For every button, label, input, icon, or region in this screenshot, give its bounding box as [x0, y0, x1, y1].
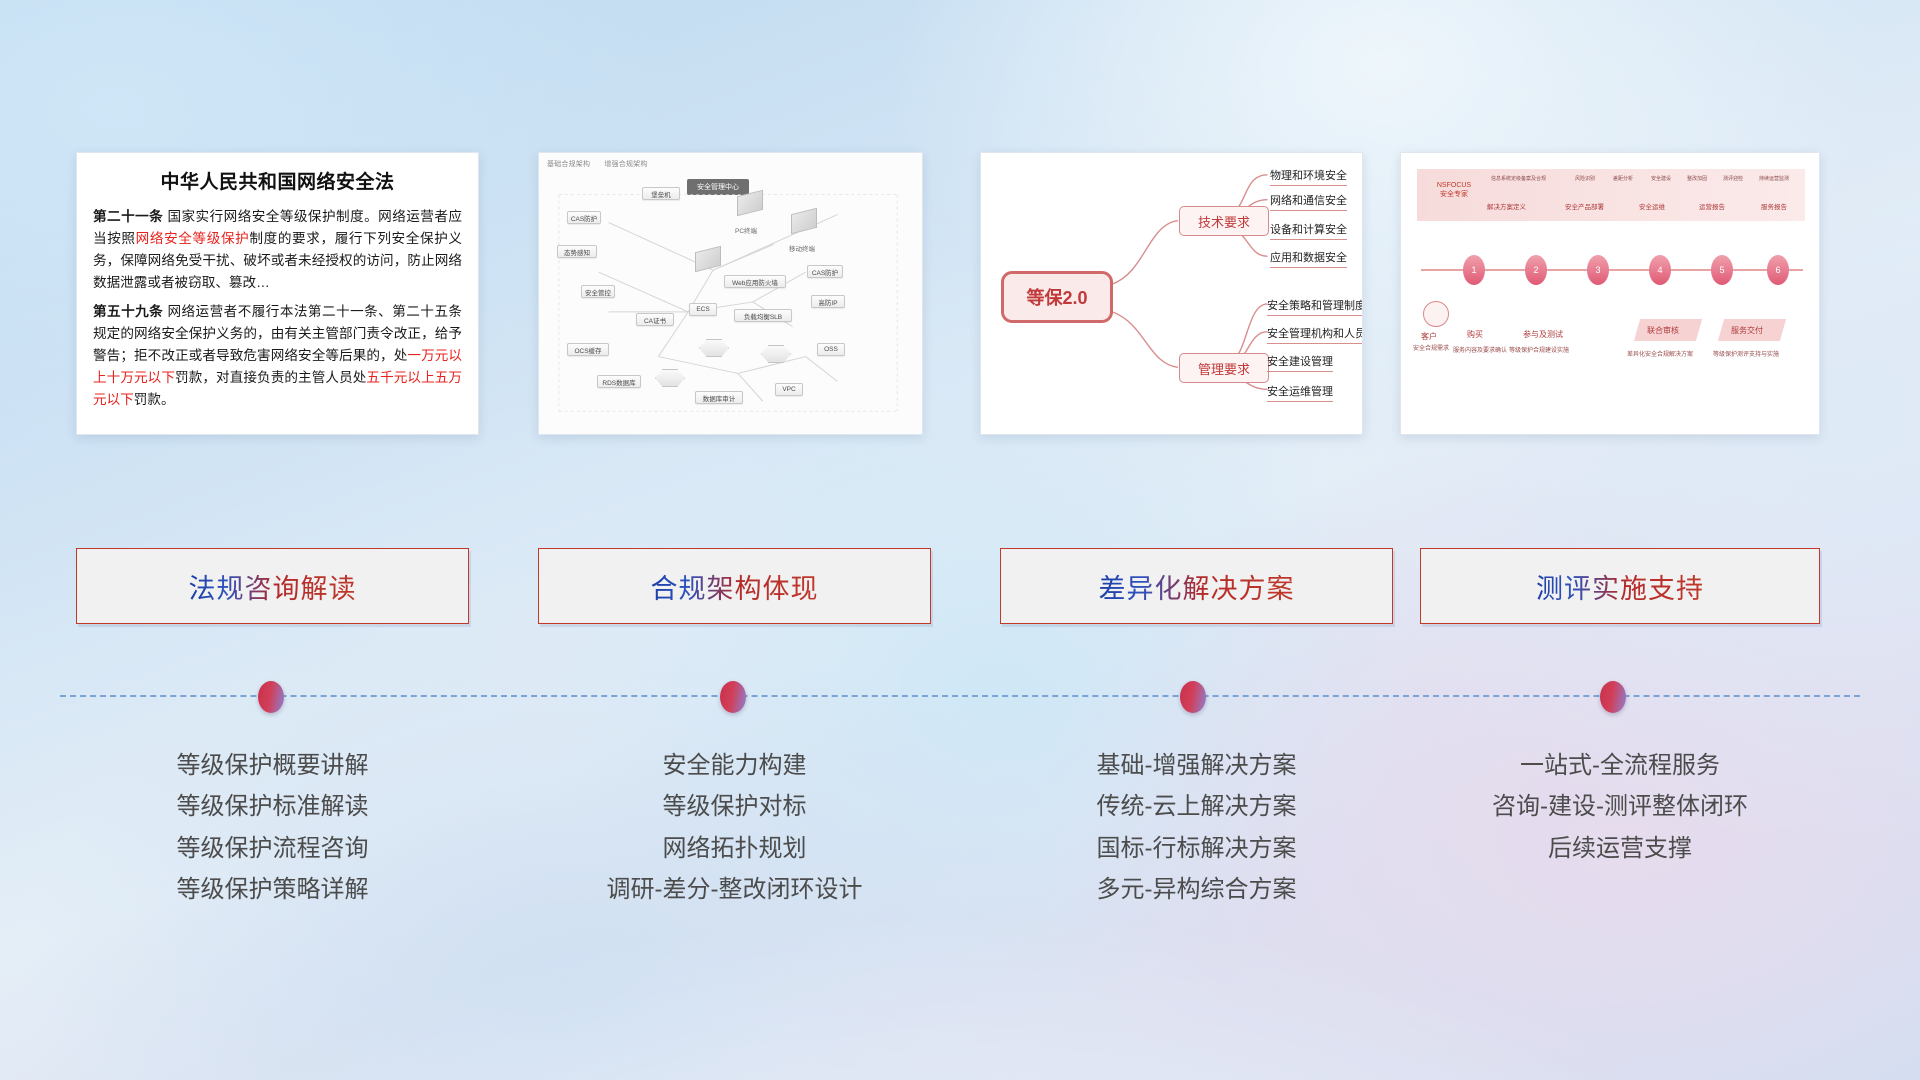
roadmap-customer-sub: 安全合规需求 — [1413, 343, 1449, 352]
roadmap-top-5: 测评迎检 — [1723, 175, 1743, 182]
roadmap-foot-0: 购买 — [1467, 329, 1483, 340]
architecture-node-6: ECS — [689, 303, 717, 316]
pillar-title-4: 测评实施支持 — [1536, 567, 1704, 606]
page-root: 中华人民共和国网络安全法 第二十一条 国家实行网络安全等级保护制度。网络运营者应… — [0, 0, 1920, 1080]
pillar-title-box-1[interactable]: 法规咨询解读 — [76, 548, 469, 624]
card-architecture-diagram: 基础合规架构 增强合规架构 安全管理中心 — [538, 152, 923, 435]
architecture-node-8: 负载均衡SLB — [734, 309, 792, 322]
architecture-label-pc: PC终端 — [735, 225, 757, 235]
roadmap-foot-3: 服务交付 — [1731, 325, 1763, 336]
mindmap-leaf-t2: 设备和计算安全 — [1270, 221, 1347, 240]
mindmap-leaf-m1: 安全管理机构和人员 — [1267, 325, 1363, 344]
law-article-59-seg-4: 罚款。 — [134, 392, 175, 407]
list-item: 调研-差分-整改闭环设计 — [538, 869, 931, 910]
roadmap-caption-4: 服务报告 — [1761, 201, 1787, 211]
list-item: 多元-异构综合方案 — [1000, 869, 1393, 910]
roadmap-brand-sub: 安全专家 — [1427, 190, 1481, 199]
law-title: 中华人民共和国网络安全法 — [93, 167, 462, 194]
roadmap-step-1: 1 — [1463, 255, 1485, 285]
architecture-node-13: 数据库审计 — [695, 391, 743, 404]
law-article-21-label: 第二十一条 — [93, 209, 163, 224]
pillar-title-box-2[interactable]: 合规架构体现 — [538, 548, 931, 624]
roadmap-top-2: 差距分析 — [1613, 175, 1633, 182]
pillar-title-1: 法规咨询解读 — [189, 567, 357, 606]
architecture-node-7: Web应用防火墙 — [724, 275, 786, 288]
roadmap-step-3: 3 — [1587, 255, 1609, 285]
list-item: 等级保护流程咨询 — [76, 828, 469, 869]
roadmap-foot-sub-2: 差异化安全合规解决方案 — [1627, 349, 1693, 358]
roadmap-caption-1: 安全产品部署 — [1565, 201, 1604, 211]
list-item: 等级保护策略详解 — [76, 869, 469, 910]
architecture-node-5: 堡垒机 — [642, 187, 680, 200]
timeline-dot-4 — [1600, 681, 1626, 713]
pillar-items-1: 等级保护概要讲解 等级保护标准解读 等级保护流程咨询 等级保护策略详解 — [76, 745, 469, 910]
architecture-label-mobile: 移动终端 — [789, 243, 815, 253]
mindmap-branch-technical: 技术要求 — [1179, 206, 1269, 236]
roadmap-foot-2: 联合审核 — [1647, 325, 1679, 336]
list-item: 等级保护对标 — [538, 786, 931, 827]
list-item: 网络拓扑规划 — [538, 828, 931, 869]
roadmap-top-3: 安全建设 — [1651, 175, 1671, 182]
list-item: 基础-增强解决方案 — [1000, 745, 1393, 786]
list-item: 一站式-全流程服务 — [1420, 745, 1820, 786]
pillar-title-2: 合规架构体现 — [651, 567, 819, 606]
roadmap-caption-0: 解决方案定义 — [1487, 201, 1526, 211]
architecture-node-9: CAS防护 — [807, 265, 843, 278]
mindmap-leaf-m3: 安全运维管理 — [1267, 383, 1333, 402]
roadmap-brand-name: NSFOCUS — [1427, 181, 1481, 190]
pillar-items-2: 安全能力构建 等级保护对标 网络拓扑规划 调研-差分-整改闭环设计 — [538, 745, 931, 910]
mindmap-canvas: 等保2.0 技术要求 管理要求 物理和环境安全 网络和通信安全 设备和计算安全 … — [981, 153, 1362, 434]
architecture-node-14: CA证书 — [636, 313, 674, 326]
card-mindmap: 等保2.0 技术要求 管理要求 物理和环境安全 网络和通信安全 设备和计算安全 … — [980, 152, 1363, 435]
roadmap-top-6: 持续运营监测 — [1759, 175, 1789, 182]
roadmap-caption-2: 安全运维 — [1639, 201, 1665, 211]
mindmap-leaf-t0: 物理和环境安全 — [1270, 167, 1347, 186]
roadmap-step-4: 4 — [1649, 255, 1671, 285]
architecture-node-1: 态势感知 — [557, 245, 597, 258]
roadmap-foot-sub-0: 服务内容及要求确认 — [1453, 345, 1507, 354]
roadmap-customer-label: 客户 — [1421, 331, 1437, 342]
timeline-dot-3 — [1180, 681, 1206, 713]
law-body: 中华人民共和国网络安全法 第二十一条 国家实行网络安全等级保护制度。网络运营者应… — [77, 153, 478, 411]
pillar-title-box-3[interactable]: 差异化解决方案 — [1000, 548, 1393, 624]
timeline-dot-1 — [258, 681, 284, 713]
architecture-node-0: CAS防护 — [567, 211, 601, 224]
roadmap-foot-sub-3: 等级保护测评支持与实施 — [1713, 349, 1779, 358]
list-item: 国标-行标解决方案 — [1000, 828, 1393, 869]
list-item: 后续运营支撑 — [1420, 828, 1820, 869]
roadmap-brand: NSFOCUS 安全专家 — [1427, 181, 1481, 200]
list-item: 咨询-建设-测评整体闭环 — [1420, 786, 1820, 827]
list-item: 安全能力构建 — [538, 745, 931, 786]
customer-avatar-icon — [1423, 301, 1449, 327]
architecture-node-10: 高防IP — [811, 295, 845, 308]
architecture-node-4: RDS数据库 — [597, 375, 641, 388]
card-law-text: 中华人民共和国网络安全法 第二十一条 国家实行网络安全等级保护制度。网络运营者应… — [76, 152, 479, 435]
mindmap-leaf-m2: 安全建设管理 — [1267, 353, 1333, 372]
pillar-title-3: 差异化解决方案 — [1099, 567, 1295, 606]
roadmap-foot-1: 参与及测试 — [1523, 329, 1563, 340]
architecture-node-3: OCS缓存 — [567, 343, 609, 356]
roadmap-foot-sub-1: 等级保护合规建设实施 — [1509, 345, 1569, 354]
roadmap-step-5: 5 — [1711, 255, 1733, 285]
timeline-dashed-line — [60, 695, 1860, 697]
card-roadmap: NSFOCUS 安全专家 信息系统定级备案及合规 风险识别 差距分析 安全建设 … — [1400, 152, 1820, 435]
mindmap-root-node: 等保2.0 — [1001, 271, 1113, 323]
list-item: 等级保护概要讲解 — [76, 745, 469, 786]
roadmap-caption-3: 运营报告 — [1699, 201, 1725, 211]
timeline-dot-2 — [720, 681, 746, 713]
mindmap-branch-management: 管理要求 — [1179, 353, 1269, 383]
law-article-59-seg-2: 罚款，对直接负责的主管人员处 — [175, 370, 366, 385]
architecture-node-2: 安全管控 — [581, 285, 615, 298]
law-article-21-seg-1: 网络安全等级保护 — [136, 231, 250, 246]
roadmap-step-6: 6 — [1767, 255, 1789, 285]
list-item: 传统-云上解决方案 — [1000, 786, 1393, 827]
architecture-canvas: 基础合规架构 增强合规架构 安全管理中心 — [539, 153, 922, 434]
pillar-items-4: 一站式-全流程服务 咨询-建设-测评整体闭环 后续运营支撑 — [1420, 745, 1820, 869]
mindmap-leaf-t1: 网络和通信安全 — [1270, 192, 1347, 211]
pillar-title-box-4[interactable]: 测评实施支持 — [1420, 548, 1820, 624]
roadmap-top-0: 信息系统定级备案及合规 — [1491, 175, 1546, 182]
law-article-59-label: 第五十九条 — [93, 304, 163, 319]
list-item: 等级保护标准解读 — [76, 786, 469, 827]
law-article-59: 第五十九条 网络运营者不履行本法第二十一条、第二十五条规定的网络安全保护义务的，… — [93, 301, 462, 411]
roadmap-top-4: 整改加固 — [1687, 175, 1707, 182]
roadmap-top-1: 风险识别 — [1575, 175, 1595, 182]
mindmap-leaf-t3: 应用和数据安全 — [1270, 249, 1347, 268]
mindmap-leaf-m0: 安全策略和管理制度 — [1267, 297, 1363, 316]
architecture-node-12: VPC — [775, 383, 803, 396]
roadmap-band: NSFOCUS 安全专家 信息系统定级备案及合规 风险识别 差距分析 安全建设 … — [1417, 169, 1805, 221]
pillar-items-3: 基础-增强解决方案 传统-云上解决方案 国标-行标解决方案 多元-异构综合方案 — [1000, 745, 1393, 910]
law-article-21: 第二十一条 国家实行网络安全等级保护制度。网络运营者应当按照网络安全等级保护制度… — [93, 206, 462, 294]
architecture-node-11: OSS — [817, 343, 845, 356]
roadmap-step-2: 2 — [1525, 255, 1547, 285]
roadmap-canvas: NSFOCUS 安全专家 信息系统定级备案及合规 风险识别 差距分析 安全建设 … — [1401, 153, 1819, 434]
